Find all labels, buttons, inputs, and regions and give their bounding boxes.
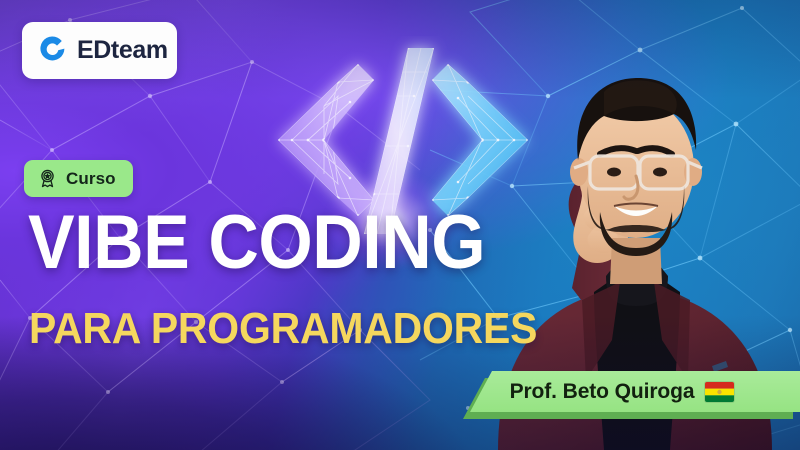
award-medal-icon bbox=[37, 168, 58, 189]
bolivia-flag-icon bbox=[705, 382, 734, 402]
instructor-name: Prof. Beto Quiroga bbox=[510, 380, 695, 404]
instructor-banner: Prof. Beto Quiroga bbox=[470, 371, 800, 412]
course-badge: Curso bbox=[24, 160, 133, 197]
course-badge-label: Curso bbox=[66, 169, 116, 189]
page-title: VIBE CODING bbox=[28, 208, 485, 278]
edteam-ring-icon bbox=[36, 34, 70, 68]
edteam-wordmark: EDteam bbox=[77, 38, 168, 63]
edteam-logo[interactable]: EDteam bbox=[22, 22, 177, 79]
course-thumbnail: EDteam Curso VIBE CODING PARA PROGRAMADO… bbox=[0, 0, 800, 450]
page-subtitle: PARA PROGRAMADORES bbox=[29, 307, 537, 351]
